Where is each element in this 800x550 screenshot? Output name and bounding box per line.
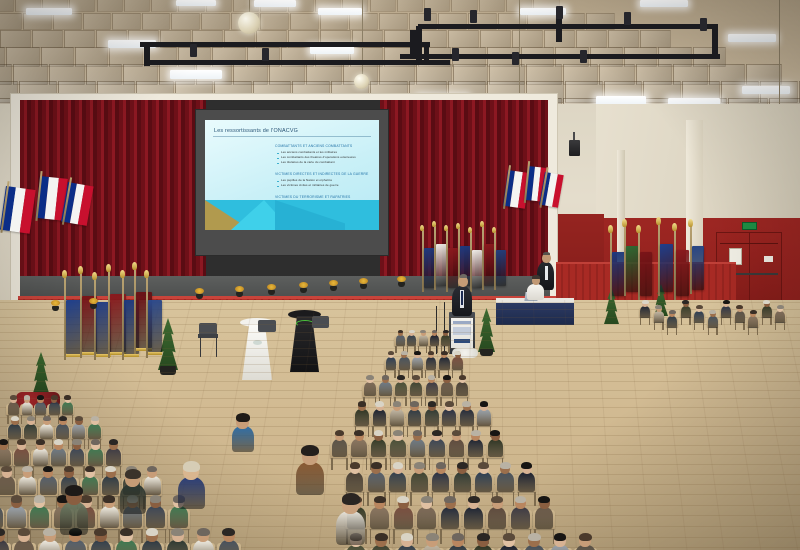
audience-member-body bbox=[144, 476, 161, 496]
ceiling-coffer bbox=[448, 30, 479, 48]
audience-member-hair bbox=[37, 395, 44, 399]
audience-member-hair bbox=[397, 496, 409, 504]
audience-chair-leg bbox=[395, 346, 396, 353]
audience-member-hair bbox=[398, 330, 404, 334]
ceiling-coffer bbox=[69, 0, 95, 12]
audience-member-hair bbox=[478, 462, 489, 469]
ceiling-light bbox=[742, 86, 790, 94]
ceiling-coffer bbox=[480, 30, 511, 48]
audience-chair-leg bbox=[389, 492, 390, 505]
audience-member-hair bbox=[91, 416, 99, 421]
ceiling-coffer bbox=[201, 13, 230, 30]
truss-lamp bbox=[190, 44, 197, 57]
audience-chair-leg bbox=[188, 529, 189, 544]
audience-member-body bbox=[410, 439, 425, 457]
audience-member-body bbox=[408, 409, 422, 425]
ceiling-coffer bbox=[576, 30, 607, 48]
audience-member-body bbox=[681, 306, 691, 318]
audience-member-hair bbox=[538, 496, 550, 504]
ceiling-light bbox=[318, 8, 362, 15]
audience-member-hair bbox=[503, 533, 516, 541]
truss-lamp bbox=[452, 48, 459, 61]
wall-speaker-icon bbox=[569, 140, 580, 156]
audience-member-body bbox=[33, 448, 48, 465]
audience-chair-leg bbox=[429, 458, 430, 470]
chrysanthemum bbox=[267, 284, 276, 290]
audience-chair-leg bbox=[405, 458, 406, 470]
audience-member-hair bbox=[763, 300, 770, 304]
folding-chair-2 bbox=[258, 320, 276, 332]
audience-member-body bbox=[386, 357, 397, 369]
audience-member-body bbox=[654, 311, 664, 323]
stage-flag bbox=[496, 250, 506, 286]
audience-chair-leg bbox=[456, 397, 457, 407]
audience-chair-leg bbox=[102, 466, 103, 478]
truss-lamp bbox=[556, 6, 563, 19]
audience-member-front-body bbox=[120, 484, 146, 514]
audience-member-hair bbox=[11, 495, 23, 503]
audience-member-hair bbox=[426, 533, 439, 541]
audience-member-hair bbox=[412, 375, 420, 380]
audience-chair-leg bbox=[452, 370, 453, 378]
audience-member-front-hair bbox=[125, 469, 141, 479]
audience-member-body bbox=[417, 507, 436, 529]
stage-flag bbox=[448, 248, 458, 288]
ceiling-coffer bbox=[290, 13, 319, 30]
audience-chair-leg bbox=[21, 415, 22, 424]
audience-member-body bbox=[640, 306, 650, 318]
audience-member-hair bbox=[350, 462, 361, 469]
slide-section-heading: VICTIMES DIRECTES ET INDIRECTES DE LA GU… bbox=[275, 172, 368, 176]
audience-member-body bbox=[49, 402, 60, 415]
audience-member-body bbox=[14, 448, 29, 465]
audience-chair-leg bbox=[165, 529, 166, 544]
audience-member-hair bbox=[414, 462, 425, 469]
ceiling-coffer bbox=[320, 13, 349, 30]
audience-member-hair bbox=[358, 401, 367, 407]
audience-member-hair bbox=[420, 330, 426, 334]
audience-chair-leg bbox=[365, 529, 366, 544]
audience-chair-leg bbox=[708, 327, 709, 334]
pendant-cord bbox=[249, 0, 250, 12]
audience-chair-leg bbox=[440, 529, 441, 544]
standard-finial bbox=[636, 225, 641, 233]
audience-chair-leg bbox=[331, 458, 332, 470]
audience-member-hair bbox=[374, 430, 384, 436]
audience-chair-leg bbox=[7, 415, 8, 424]
standard-finial bbox=[608, 225, 613, 233]
flower-pot bbox=[236, 292, 243, 297]
audience-chair-leg bbox=[689, 317, 690, 324]
pendant-lamp bbox=[238, 12, 260, 34]
audience-member-body bbox=[721, 306, 731, 318]
audience-member-hair bbox=[393, 401, 402, 407]
audience-member-hair bbox=[0, 439, 8, 445]
audience-member-hair bbox=[723, 300, 730, 304]
audience-member-body bbox=[351, 439, 366, 457]
audience-member-hair bbox=[197, 528, 210, 536]
audience-member-hair bbox=[428, 375, 436, 380]
ceiling-coffer bbox=[97, 0, 123, 12]
standing-man-shirt bbox=[545, 266, 548, 280]
audience-member-body bbox=[364, 382, 376, 396]
slide-bullet: Les victimes civiles et militaires de gu… bbox=[281, 183, 339, 187]
audience-member-hair bbox=[432, 330, 438, 334]
standard-finial bbox=[106, 264, 111, 272]
lighting-truss bbox=[712, 26, 718, 58]
audience-member-hair bbox=[11, 416, 19, 421]
audience-member-body bbox=[497, 472, 514, 492]
audience-member-body bbox=[419, 335, 428, 346]
audience-member-hair bbox=[410, 401, 419, 407]
audience-member-body bbox=[88, 448, 103, 465]
audience-member-hair bbox=[428, 351, 435, 355]
audience-member-body bbox=[441, 382, 453, 396]
ceiling-coffer bbox=[0, 30, 31, 48]
regimental-standard bbox=[640, 252, 652, 296]
audience-member-hair bbox=[441, 351, 448, 355]
truss-lamp bbox=[580, 50, 587, 63]
audience-member-hair bbox=[428, 401, 437, 407]
audience-member-body bbox=[7, 506, 26, 528]
audience-chair-leg bbox=[35, 415, 36, 424]
ceiling-coffer bbox=[124, 0, 150, 12]
audience-member-body bbox=[24, 424, 37, 439]
audience-member-hair bbox=[436, 462, 447, 469]
audience-chair-leg bbox=[366, 458, 367, 470]
audience-member-body bbox=[368, 472, 385, 492]
audience-member-front-hair bbox=[65, 485, 83, 496]
audience-chair-leg bbox=[425, 370, 426, 378]
audience-member-hair bbox=[54, 439, 63, 445]
ceiling-coffer bbox=[64, 30, 95, 48]
audience-chair-leg bbox=[370, 529, 371, 544]
audience-member-hair bbox=[22, 466, 32, 473]
chrysanthemum bbox=[235, 286, 244, 292]
audience-member-body bbox=[411, 472, 428, 492]
truss-lamp bbox=[624, 12, 631, 25]
audience-chair-leg bbox=[467, 458, 468, 470]
audience-chair-leg bbox=[385, 458, 386, 470]
standard-fringe bbox=[148, 352, 162, 355]
audience-member-body bbox=[667, 316, 677, 328]
audience-member-hair bbox=[36, 439, 45, 445]
audience-chair-leg bbox=[448, 458, 449, 470]
audience-member-body bbox=[464, 507, 483, 529]
audience-member-hair bbox=[444, 496, 456, 504]
ceiling-coffer bbox=[349, 13, 378, 30]
ceiling-coffer bbox=[142, 13, 171, 30]
stage-flag-finial bbox=[444, 225, 448, 231]
standard-finial bbox=[622, 219, 627, 227]
audience-member-front-body bbox=[60, 502, 88, 535]
slide-title: Les ressortissants de l'ONACVG bbox=[214, 128, 298, 134]
audience-member-hair bbox=[222, 528, 235, 536]
slide-footer-graphic bbox=[205, 200, 379, 230]
audience-member-hair bbox=[382, 375, 390, 380]
audience-member-hair bbox=[490, 430, 500, 436]
audience-member-hair bbox=[388, 351, 395, 355]
flower-pot bbox=[268, 290, 275, 295]
audience-chair-leg bbox=[448, 346, 449, 353]
audience-member-body bbox=[106, 448, 121, 465]
audience-chair-leg bbox=[654, 322, 655, 329]
regimental-standard bbox=[660, 244, 673, 292]
flower-pot bbox=[52, 306, 59, 311]
audience-member-body bbox=[518, 472, 535, 492]
audience-member-body bbox=[407, 335, 416, 346]
audience-member-hair bbox=[462, 401, 471, 407]
audience-chair-leg bbox=[7, 529, 8, 544]
audience-member-body bbox=[56, 424, 69, 439]
audience-member-hair bbox=[443, 375, 451, 380]
audience-chair-leg bbox=[14, 466, 15, 478]
folding-chair-3 bbox=[312, 316, 329, 328]
audience-member-front-body bbox=[336, 511, 365, 546]
audience-chair-leg bbox=[390, 458, 391, 470]
audience-member-hair bbox=[709, 310, 716, 314]
audience-member-hair bbox=[105, 466, 115, 473]
audience-member-hair bbox=[750, 310, 757, 314]
stage-flag-finial bbox=[420, 225, 424, 231]
audience-member-hair bbox=[696, 305, 703, 309]
audience-member-body bbox=[0, 476, 15, 496]
audience-member-body bbox=[62, 402, 73, 415]
audience-member-hair bbox=[24, 395, 31, 399]
audience-chair-leg bbox=[730, 317, 731, 324]
audience-member-body bbox=[775, 311, 785, 323]
audience-chair-leg bbox=[440, 397, 441, 407]
audience-member-body bbox=[449, 439, 464, 457]
audience-member-hair bbox=[421, 496, 433, 504]
audience-chair-leg bbox=[84, 439, 85, 449]
audience-member-hair bbox=[515, 496, 527, 504]
audience-chair-leg bbox=[649, 317, 650, 324]
audience-member-hair bbox=[432, 430, 442, 436]
audience-member-body bbox=[22, 402, 33, 415]
audience-member-body bbox=[477, 409, 491, 425]
audience-chair-leg bbox=[52, 439, 53, 449]
audience-chair-leg bbox=[409, 458, 410, 470]
audience-member-hair bbox=[75, 416, 83, 421]
audience-chair-leg bbox=[88, 439, 89, 449]
audience-chair-leg bbox=[442, 426, 443, 437]
audience-member-body bbox=[708, 316, 718, 328]
truss-lamp bbox=[470, 10, 477, 23]
audience-member-hair bbox=[375, 533, 388, 541]
audience-member-hair bbox=[642, 300, 649, 304]
floor-plank bbox=[0, 398, 800, 399]
audience-member-front-hair bbox=[236, 413, 250, 422]
standard-fringe bbox=[124, 354, 139, 357]
audience-chair-leg bbox=[390, 397, 391, 407]
ceiling-coffer bbox=[151, 0, 177, 12]
flower-pot bbox=[360, 284, 367, 289]
audience-member-hair bbox=[17, 439, 26, 445]
audience-member-hair bbox=[150, 495, 162, 503]
truss-lamp bbox=[700, 18, 707, 31]
audience-member-hair bbox=[366, 375, 374, 380]
lighting-truss bbox=[418, 24, 718, 29]
audience-member-body bbox=[100, 506, 119, 528]
pendant-cord bbox=[779, 0, 780, 118]
ceiling-coffer bbox=[379, 13, 408, 30]
standard-finial bbox=[672, 223, 677, 231]
audience-member-hair bbox=[109, 439, 118, 445]
audience-member-body bbox=[8, 402, 19, 415]
audience-member-hair bbox=[43, 528, 56, 536]
ceiling-coffer bbox=[397, 0, 423, 12]
chrysanthemum bbox=[89, 298, 98, 304]
ceiling-coffer bbox=[23, 13, 52, 30]
audience-member-body bbox=[0, 448, 11, 465]
audience-chair-leg bbox=[367, 492, 368, 505]
slide-bullet: Les anciens combattants et les militaire… bbox=[281, 150, 337, 154]
audience-member-hair bbox=[72, 439, 81, 445]
audience-member-body bbox=[373, 409, 387, 425]
audience-member-body bbox=[19, 476, 36, 496]
audience-chair-leg bbox=[438, 370, 439, 378]
stage-flag-finial bbox=[456, 223, 460, 229]
audience-member-hair bbox=[374, 496, 386, 504]
flower-pot bbox=[90, 304, 97, 309]
desk-assistant-hair bbox=[532, 275, 540, 279]
audience-chair-leg bbox=[743, 322, 744, 329]
audience-chair-leg bbox=[410, 492, 411, 505]
flower-pot bbox=[398, 282, 405, 287]
flower-pot bbox=[300, 288, 307, 293]
audience-member-hair bbox=[94, 528, 107, 536]
stage-flag-finial bbox=[432, 221, 436, 227]
flower-pot bbox=[330, 286, 337, 291]
audience-chair-leg bbox=[721, 317, 722, 324]
audience-member-hair bbox=[51, 395, 58, 399]
conference-hall-photo: Les ressortissants de l'ONACVG COMBATTAN… bbox=[0, 0, 800, 550]
ceiling-coffer bbox=[32, 30, 63, 48]
audience-member-body bbox=[694, 311, 704, 323]
audience-member-hair bbox=[393, 430, 403, 436]
standard-finial bbox=[78, 266, 83, 274]
audience-chair-leg bbox=[421, 397, 422, 407]
lighting-truss bbox=[140, 42, 430, 47]
audience-chair-leg bbox=[405, 397, 406, 407]
audience-member-hair bbox=[579, 533, 592, 541]
slide-section-heading: VICTIMES DU TERRORISME ET RAPATRIES bbox=[275, 195, 350, 199]
audience-member-front-body bbox=[178, 477, 205, 509]
audience-member-hair bbox=[500, 462, 511, 469]
audience-member-hair bbox=[393, 462, 404, 469]
audience-member-body bbox=[35, 402, 46, 415]
audience-member-body bbox=[426, 382, 438, 396]
audience-member-hair bbox=[354, 430, 364, 436]
ceiling-light bbox=[176, 0, 216, 6]
audience-member-body bbox=[535, 507, 554, 529]
slide-bullet: Les combattants des theatres d'operation… bbox=[281, 155, 356, 159]
audience-chair-leg bbox=[437, 346, 438, 353]
ceiling-coffer bbox=[171, 13, 200, 30]
audience-member-hair bbox=[471, 430, 481, 436]
audience-member-body bbox=[429, 439, 444, 457]
regimental-standard bbox=[692, 246, 704, 290]
audience-chair-leg bbox=[389, 529, 390, 544]
audience-chair-leg bbox=[757, 327, 758, 334]
ceiling-coffer bbox=[0, 13, 22, 30]
ceiling-coffer bbox=[112, 13, 141, 30]
audience-member-hair bbox=[443, 330, 449, 334]
regimental-standard bbox=[148, 300, 162, 352]
audience-member-front-hair bbox=[342, 493, 360, 505]
audience-chair-leg bbox=[681, 317, 682, 324]
audience-chair-leg bbox=[424, 426, 425, 437]
audience-member-hair bbox=[401, 351, 408, 355]
audience-member-body bbox=[460, 409, 474, 425]
audience-chair-leg bbox=[393, 529, 394, 544]
lighting-truss bbox=[400, 54, 720, 59]
audience-member-hair bbox=[413, 430, 423, 436]
slide-bullet: Les pupilles de la Nation et orphelins bbox=[281, 178, 332, 182]
audience-member-hair bbox=[669, 310, 676, 314]
audience-chair-leg bbox=[735, 322, 736, 329]
audience-chair-leg bbox=[640, 317, 641, 324]
audience-member-body bbox=[51, 448, 66, 465]
standard-finial bbox=[62, 270, 67, 278]
audience-member-hair bbox=[777, 305, 784, 309]
chrysanthemum bbox=[299, 282, 308, 288]
audience-member-body bbox=[40, 424, 53, 439]
audience-member-hair bbox=[146, 528, 159, 536]
audience-chair-leg bbox=[426, 346, 427, 353]
audience-member-body bbox=[390, 409, 404, 425]
audience-member-hair bbox=[43, 416, 51, 421]
ceiling-light bbox=[170, 70, 222, 79]
audience-member-hair bbox=[521, 462, 532, 469]
audience-member-hair bbox=[103, 495, 115, 503]
audience-member-hair bbox=[468, 496, 480, 504]
audience-member-hair bbox=[454, 351, 461, 355]
audience-member-body bbox=[488, 507, 507, 529]
audience-chair-leg bbox=[385, 426, 386, 437]
audience-chair-leg bbox=[346, 458, 347, 470]
pendant-lamp bbox=[354, 74, 369, 89]
stage-flag-finial bbox=[480, 221, 484, 227]
audience-member-hair bbox=[457, 462, 468, 469]
audience-chair-leg bbox=[141, 529, 142, 544]
audience-member-body bbox=[390, 439, 405, 457]
audience-member-hair bbox=[59, 416, 67, 421]
ceiling-light bbox=[640, 0, 688, 7]
audience-chair-leg bbox=[100, 439, 101, 449]
chrysanthemum bbox=[195, 288, 204, 294]
audience-member-front-body bbox=[232, 426, 254, 452]
audience-chair-leg bbox=[97, 496, 98, 509]
audience-member-body bbox=[395, 382, 407, 396]
audience-chair-leg bbox=[762, 317, 763, 324]
audience-member-body bbox=[441, 507, 460, 529]
audience-member-hair bbox=[445, 401, 454, 407]
audience-member-hair bbox=[682, 300, 689, 304]
ceiling-coffer bbox=[370, 0, 396, 12]
standing-man-hair bbox=[543, 252, 550, 255]
audience-member-front-hair bbox=[183, 461, 200, 472]
audience-member-body bbox=[442, 409, 456, 425]
ceiling-coffer bbox=[0, 0, 14, 12]
audience-member-hair bbox=[452, 533, 465, 541]
audience-member-body bbox=[379, 382, 391, 396]
chrysanthemum bbox=[359, 278, 368, 284]
audience-member-hair bbox=[397, 375, 405, 380]
audience-chair-leg bbox=[390, 426, 391, 437]
audience-member-body bbox=[30, 506, 49, 528]
